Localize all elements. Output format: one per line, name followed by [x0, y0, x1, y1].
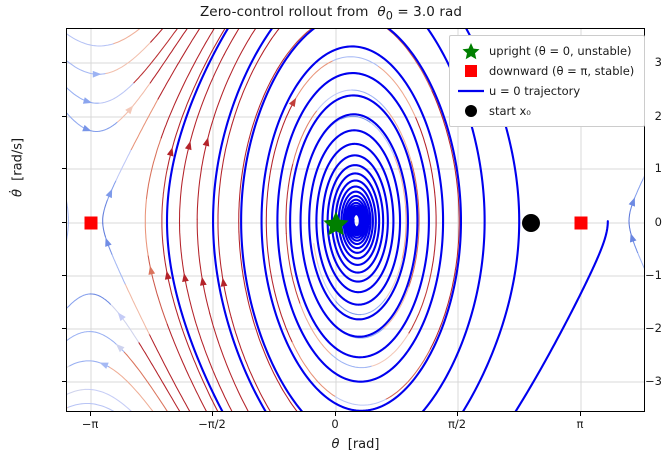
legend-item-downward: downward (θ = π, stable) [456, 61, 637, 81]
legend-label: downward (θ = π, stable) [486, 64, 634, 78]
star-marker-icon [456, 42, 486, 60]
square-marker-icon [456, 62, 486, 80]
legend-label: upright (θ = 0, unstable) [486, 44, 632, 58]
y-tick-label: −3 [606, 374, 662, 388]
legend-label: start x₀ [486, 104, 531, 118]
x-tick-label: −π/2 [198, 417, 226, 431]
y-tick-label: 0 [606, 215, 662, 229]
circle-marker-icon [456, 102, 486, 120]
x-tick-label: −π [82, 417, 99, 431]
legend-label: u = 0 trajectory [486, 84, 580, 98]
figure: Zero-control rollout from θ0 = 3.0 rad [0, 0, 662, 470]
downward-equilibrium-left-marker [85, 217, 98, 230]
x-tick-label: 0 [331, 417, 338, 431]
legend-item-upright: upright (θ = 0, unstable) [456, 41, 637, 61]
legend-item-trajectory: u = 0 trajectory [456, 81, 637, 101]
title-text: Zero-control rollout from θ0 = 3.0 rad [200, 4, 462, 20]
y-tick-label: −1 [606, 268, 662, 282]
downward-equilibrium-right-marker [575, 217, 588, 230]
y-tick-label: 1 [606, 161, 662, 175]
legend: upright (θ = 0, unstable) downward (θ = … [449, 35, 645, 127]
start-state-marker [522, 214, 540, 232]
x-tick-label: π/2 [448, 417, 466, 431]
page-title: Zero-control rollout from θ0 = 3.0 rad [0, 4, 662, 23]
line-marker-icon [456, 86, 486, 96]
y-tick-label: −2 [606, 321, 662, 335]
legend-item-start: start x₀ [456, 101, 637, 121]
y-axis-label: θ̇ [rad/s] [11, 78, 26, 258]
x-tick-label: π [577, 417, 584, 431]
x-axis-label: θ [rad] [66, 437, 645, 452]
